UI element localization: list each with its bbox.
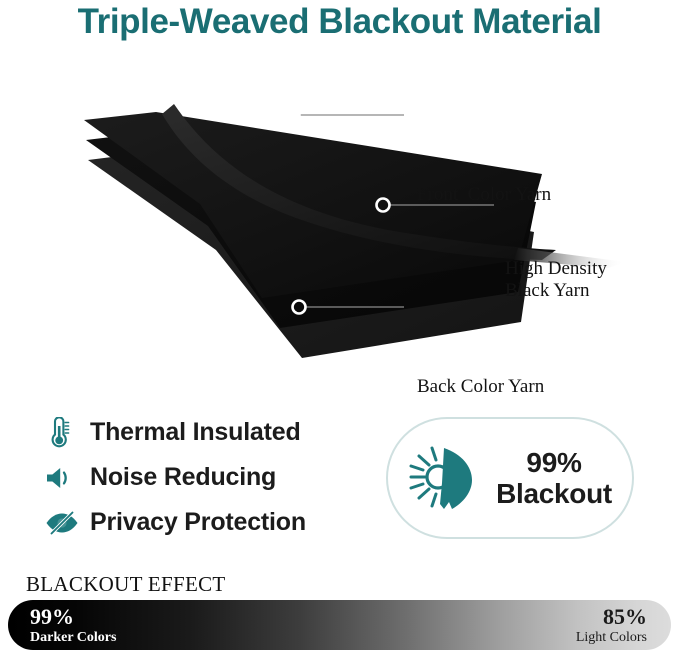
feature-list: Thermal Insulated Noise Reducing Privacy…	[44, 410, 374, 545]
blackout-badge: 99% Blackout	[386, 417, 634, 539]
gradient-bar-right-group: 85% Light Colors	[576, 605, 647, 645]
light-colors-percent: 85%	[576, 605, 647, 630]
callout-label-front: Front Color Yarn	[417, 184, 551, 206]
blackout-gradient-bar: 99% Darker Colors 85% Light Colors	[8, 600, 671, 650]
feature-item-thermal-insulated: Thermal Insulated	[44, 410, 374, 455]
callout-node-front	[287, 109, 300, 122]
feature-label-thermal-insulated: Thermal Insulated	[90, 418, 301, 447]
callout-label-back: Back Color Yarn	[417, 376, 544, 398]
triple-layer-fabric-graphic	[0, 78, 679, 368]
light-colors-label: Light Colors	[576, 630, 647, 645]
darker-colors-percent: 99%	[30, 605, 116, 630]
thermometer-icon	[44, 417, 90, 449]
feature-label-noise-reducing: Noise Reducing	[90, 463, 276, 492]
feature-item-noise-reducing: Noise Reducing	[44, 455, 374, 500]
page-title: Triple-Weaved Blackout Material	[0, 2, 679, 42]
blackout-percent: 99%	[526, 447, 581, 478]
blackout-label: Blackout	[496, 478, 612, 509]
gradient-bar-left-group: 99% Darker Colors	[30, 605, 116, 645]
blackout-effect-title: BLACKOUT EFFECT	[26, 572, 226, 597]
blackout-badge-text: 99% Blackout	[484, 447, 632, 510]
feature-label-privacy-protection: Privacy Protection	[90, 508, 306, 537]
callout-label-high-density: High Density Black Yarn	[505, 258, 607, 303]
fabric-illustration: Front Color Yarn High Density Black Yarn…	[0, 78, 679, 368]
darker-colors-label: Darker Colors	[30, 630, 116, 645]
speaker-icon	[44, 464, 90, 492]
eye-slash-icon	[44, 509, 90, 537]
feature-item-privacy-protection: Privacy Protection	[44, 500, 374, 545]
sun-behind-curtain-icon	[388, 443, 484, 513]
